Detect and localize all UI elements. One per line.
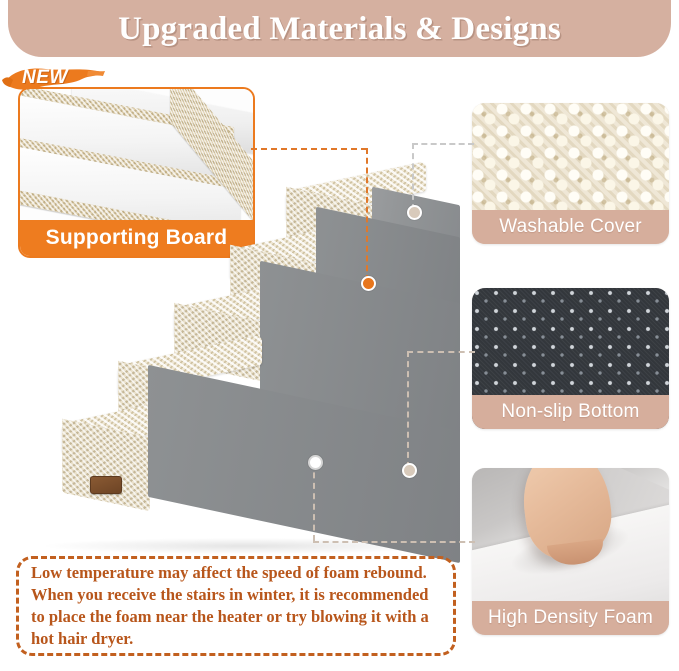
new-badge-label: NEW xyxy=(22,67,68,89)
connector-dot-supporting-board xyxy=(361,276,376,291)
connector-dot-washable xyxy=(407,205,422,220)
high-density-foam-label: High Density Foam xyxy=(472,601,669,635)
warning-note-box: Low temperature may affect the speed of … xyxy=(16,556,456,656)
connector-supporting-board-h xyxy=(251,148,367,150)
brand-tag xyxy=(90,476,122,494)
pet-stairs-product xyxy=(28,170,458,555)
connector-dot-foam xyxy=(308,455,323,470)
feature-panel-non-slip-bottom: Non-slip Bottom xyxy=(472,288,669,429)
new-badge: NEW xyxy=(2,63,106,95)
connector-dot-nonslip xyxy=(402,463,417,478)
non-slip-bottom-label: Non-slip Bottom xyxy=(472,395,669,429)
warning-note-text: Low temperature may affect the speed of … xyxy=(31,562,441,650)
connector-washable-h xyxy=(412,143,474,145)
infographic-page: Upgraded Materials & Designs Supporting … xyxy=(0,0,679,671)
header-banner: Upgraded Materials & Designs xyxy=(8,0,671,57)
feature-panel-washable-cover: Washable Cover xyxy=(472,103,669,244)
feature-panel-high-density-foam: High Density Foam xyxy=(472,468,669,635)
product-shadow xyxy=(46,538,446,554)
washable-cover-label: Washable Cover xyxy=(472,210,669,244)
page-title: Upgraded Materials & Designs xyxy=(118,13,561,57)
